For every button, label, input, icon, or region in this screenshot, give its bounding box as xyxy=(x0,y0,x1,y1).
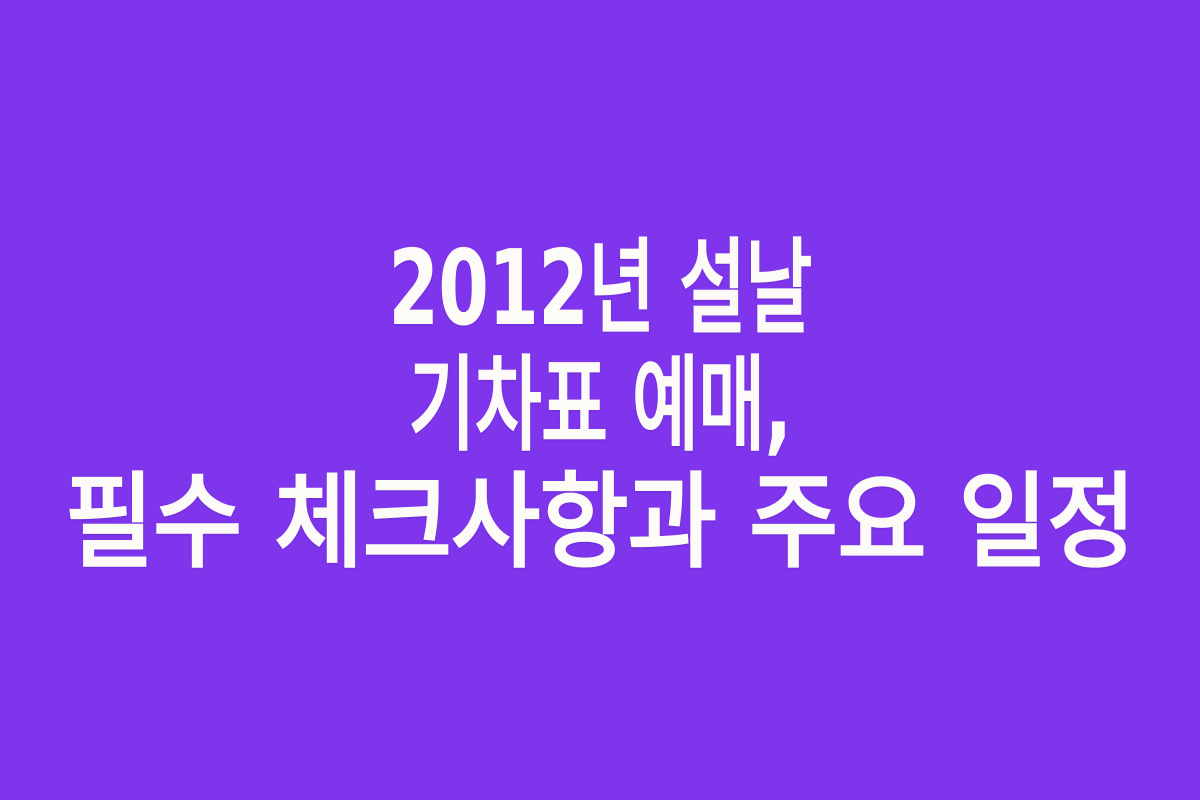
title-line-2: 기차표 예매, xyxy=(180,347,1020,464)
title-line-3: 필수 체크사항과 주요 일정 xyxy=(40,464,1160,581)
banner-background: 2012년 설날 기차표 예매, 필수 체크사항과 주요 일정 xyxy=(0,0,1200,800)
title-line-1: 2012년 설날 xyxy=(180,230,1020,347)
title-block: 2012년 설날 기차표 예매, 필수 체크사항과 주요 일정 xyxy=(0,230,1200,581)
